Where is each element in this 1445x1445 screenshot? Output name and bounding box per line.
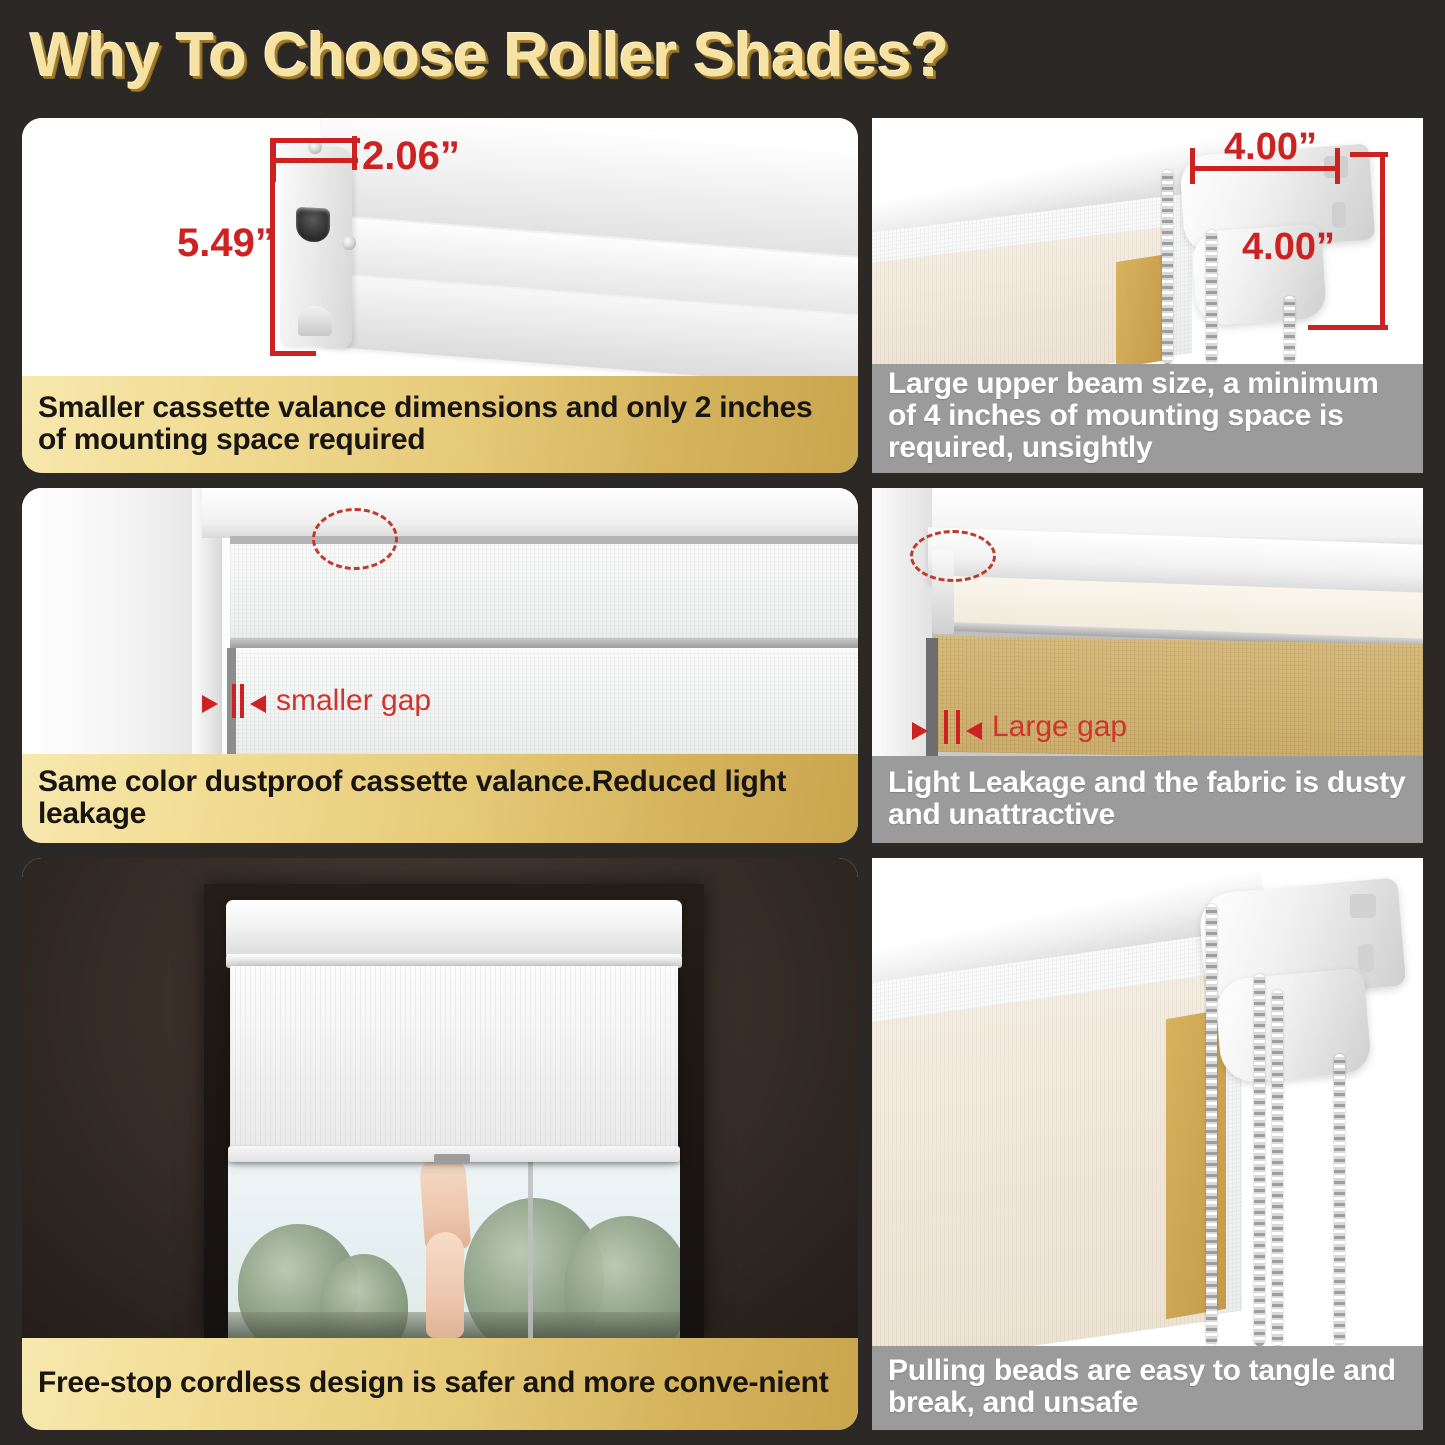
window-casing-top: [202, 488, 858, 538]
panel-3-caption: Same color dustproof cassette valance.Re…: [22, 754, 858, 843]
bead-chain-middle-2: [1254, 974, 1265, 1346]
panel-5-caption: Free-stop cordless design is safer and m…: [22, 1338, 858, 1430]
bead-chain-middle: [1206, 230, 1217, 364]
gap-arrow-right: [250, 695, 266, 713]
panel-1-caption: Smaller cassette valance dimensions and …: [22, 376, 858, 473]
hand-forearm: [426, 1232, 464, 1338]
shade-fabric-beige-2: [872, 975, 1212, 1346]
panel-6-caption-text: Pulling beads are easy to tangle and bre…: [888, 1355, 1409, 1419]
gap-tick-b2: [956, 710, 960, 744]
dim-h-tick-top-2: [1350, 152, 1388, 157]
bead-chain-middle-3: [1272, 990, 1283, 1346]
bracket-slot-lower-2: [1358, 944, 1374, 972]
window-casing-left: [22, 488, 202, 754]
wall-left: [872, 488, 932, 756]
shade-fabric-gold-edge: [1116, 254, 1168, 364]
page-title: Why To Choose Roller Shades?: [30, 20, 948, 91]
bead-chain-right: [1284, 296, 1295, 364]
panel-1-caption-text: Smaller cassette valance dimensions and …: [38, 392, 844, 456]
panel-6-photo: [872, 858, 1423, 1346]
panel-4-caption-text: Light Leakage and the fabric is dusty an…: [888, 767, 1409, 831]
dim-w-tick-r: [1335, 148, 1340, 184]
shade-fabric-gold-edge-2: [1166, 1009, 1226, 1320]
bead-chain-left-2: [1206, 904, 1217, 1346]
dim-height-tick-bottom: [270, 351, 316, 356]
panel-pulling-beads: Pulling beads are easy to tangle and bre…: [872, 858, 1423, 1430]
bracket-screw-mid: [342, 236, 356, 250]
panel-1-photo: 2.06” 5.49”: [22, 118, 858, 376]
dimension-width-label: 2.06”: [362, 134, 460, 179]
bracket-knob: [298, 306, 332, 336]
gap-tick-a2: [944, 710, 948, 744]
panel-cordless-design: Free-stop cordless design is safer and m…: [22, 858, 858, 1430]
panel-smaller-cassette: 2.06” 5.49” Smaller cassette valance dim…: [22, 118, 858, 473]
cassette-valance: [226, 900, 682, 956]
panel-2-caption-text: Large upper beam size, a minimum of 4 in…: [888, 368, 1409, 463]
shade-panel: [230, 966, 678, 1158]
panel-4-photo: Large gap: [872, 488, 1423, 756]
dimension-height-label: 5.49”: [177, 221, 275, 266]
gap-arrow-right-2: [966, 722, 982, 740]
comparison-grid: 2.06” 5.49” Smaller cassette valance dim…: [0, 108, 1445, 1445]
page-header: Why To Choose Roller Shades?: [0, 0, 1445, 110]
panel-2-caption: Large upper beam size, a minimum of 4 in…: [872, 364, 1423, 473]
panel-dustproof-cassette: smaller gap Same color dustproof cassett…: [22, 488, 858, 843]
highlight-ellipse: [312, 508, 398, 570]
bracket-slot-upper-2: [1350, 894, 1376, 918]
valance-bottom-edge: [230, 638, 858, 648]
smaller-gap-label: smaller gap: [276, 684, 431, 718]
panel-light-leakage: Large gap Light Leakage and the fabric i…: [872, 488, 1423, 843]
panel-5-photo: [22, 858, 858, 1338]
bottom-rail-tab: [434, 1154, 470, 1164]
bead-chain-right-2: [1334, 1054, 1345, 1346]
panel-6-caption: Pulling beads are easy to tangle and bre…: [872, 1346, 1423, 1430]
dim-h-line-2: [1380, 152, 1385, 330]
dim-width-tick-right: [352, 136, 357, 170]
beam-bracket-bottom-2: [1214, 968, 1372, 1085]
window-mullion: [528, 1158, 533, 1338]
dimension-width-label-2: 4.00”: [1224, 126, 1317, 169]
dim-width-line: [276, 158, 358, 163]
dim-h-tick-bot-2: [1308, 325, 1388, 330]
highlight-ellipse-2: [910, 530, 996, 582]
dimension-height-label-2: 4.00”: [1242, 226, 1335, 269]
bracket-slot-lower: [1332, 202, 1346, 228]
gap-tick-b: [240, 684, 244, 718]
panel-5-caption-text: Free-stop cordless design is safer and m…: [38, 1367, 828, 1399]
gap-arrow-left: [202, 695, 218, 713]
panel-4-caption: Light Leakage and the fabric is dusty an…: [872, 756, 1423, 843]
panel-2-photo: 4.00” 4.00”: [872, 118, 1423, 364]
gap-arrow-left-2: [912, 722, 928, 740]
panel-3-photo: smaller gap: [22, 488, 858, 754]
dim-width-lead: [270, 138, 360, 143]
large-gap-label: Large gap: [992, 710, 1127, 744]
gap-tick-a: [232, 684, 236, 718]
panel-large-upper-beam: 4.00” 4.00” Large upper beam size, a min…: [872, 118, 1423, 473]
panel-3-caption-text: Same color dustproof cassette valance.Re…: [38, 766, 844, 830]
bead-chain-left: [1162, 170, 1173, 364]
